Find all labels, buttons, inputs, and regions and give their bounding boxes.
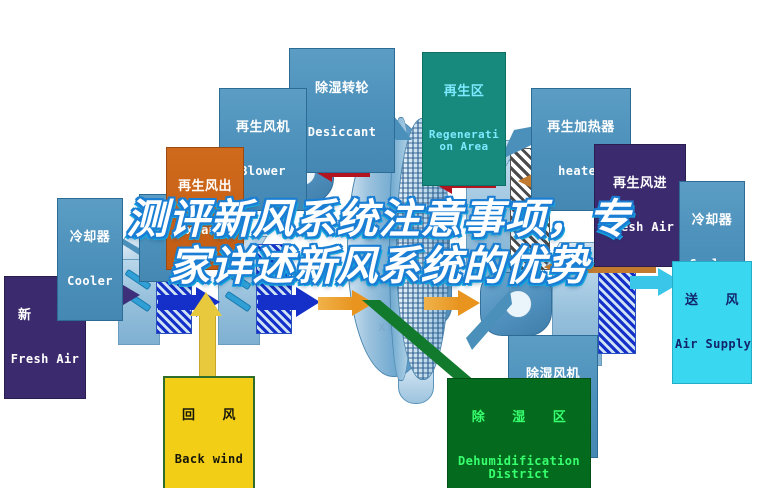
label-regeneration-heater-cn: 再生加热器: [534, 121, 628, 136]
diagram-canvas: XT: [0, 0, 757, 488]
label-dehumidification-district[interactable]: 除 湿 区 Dehumidification District: [447, 378, 591, 488]
label-back-wind-cn: 回 风: [167, 409, 251, 424]
label-cooler-left-en: Cooler: [60, 275, 120, 288]
label-cooler-left-cn: 冷却器: [60, 231, 120, 246]
label-dehumidification-district-cn: 除 湿 区: [450, 411, 588, 426]
label-desiccant-wheel-en: Desiccant: [292, 126, 392, 139]
label-regeneration-area-cn: 再生区: [425, 85, 503, 100]
label-regeneration-fresh-air[interactable]: 再生风进 Fresh Air: [594, 144, 686, 267]
label-regeneration-blower-cn: 再生风机: [222, 121, 304, 136]
label-regeneration-area-en: Regenerati on Area: [425, 129, 503, 154]
label-regeneration-fresh-air-cn: 再生风进: [597, 177, 683, 192]
label-back-wind-en: Back wind: [167, 453, 251, 466]
label-exhaust[interactable]: 再生风出 Exhaust: [166, 147, 244, 270]
back-wind-arrow: [190, 292, 222, 376]
label-air-supply-cn: 送 风: [675, 294, 749, 309]
label-fresh-air-en: Fresh Air: [7, 353, 83, 366]
label-dehumidification-district-en: Dehumidification District: [450, 455, 588, 482]
label-cooler-left[interactable]: 冷却器 Cooler: [57, 198, 123, 321]
dry-air-arrow-2: [424, 290, 482, 316]
process-air-arrow-2: [258, 287, 320, 317]
label-desiccant-wheel-cn: 除湿转轮: [292, 82, 392, 97]
label-regeneration-area[interactable]: 再生区 Regenerati on Area: [422, 52, 506, 186]
cooler-coil-2: [224, 272, 252, 312]
label-exhaust-en: Exhaust: [169, 224, 241, 237]
label-air-supply[interactable]: 送 风 Air Supply: [672, 261, 752, 384]
label-regeneration-fresh-air-en: Fresh Air: [597, 221, 683, 234]
label-back-wind[interactable]: 回 风 Back wind: [163, 376, 255, 488]
label-air-supply-en: Air Supply: [675, 338, 749, 351]
label-cooler-right-cn: 冷却器: [682, 214, 742, 229]
label-exhaust-cn: 再生风出: [169, 180, 241, 195]
